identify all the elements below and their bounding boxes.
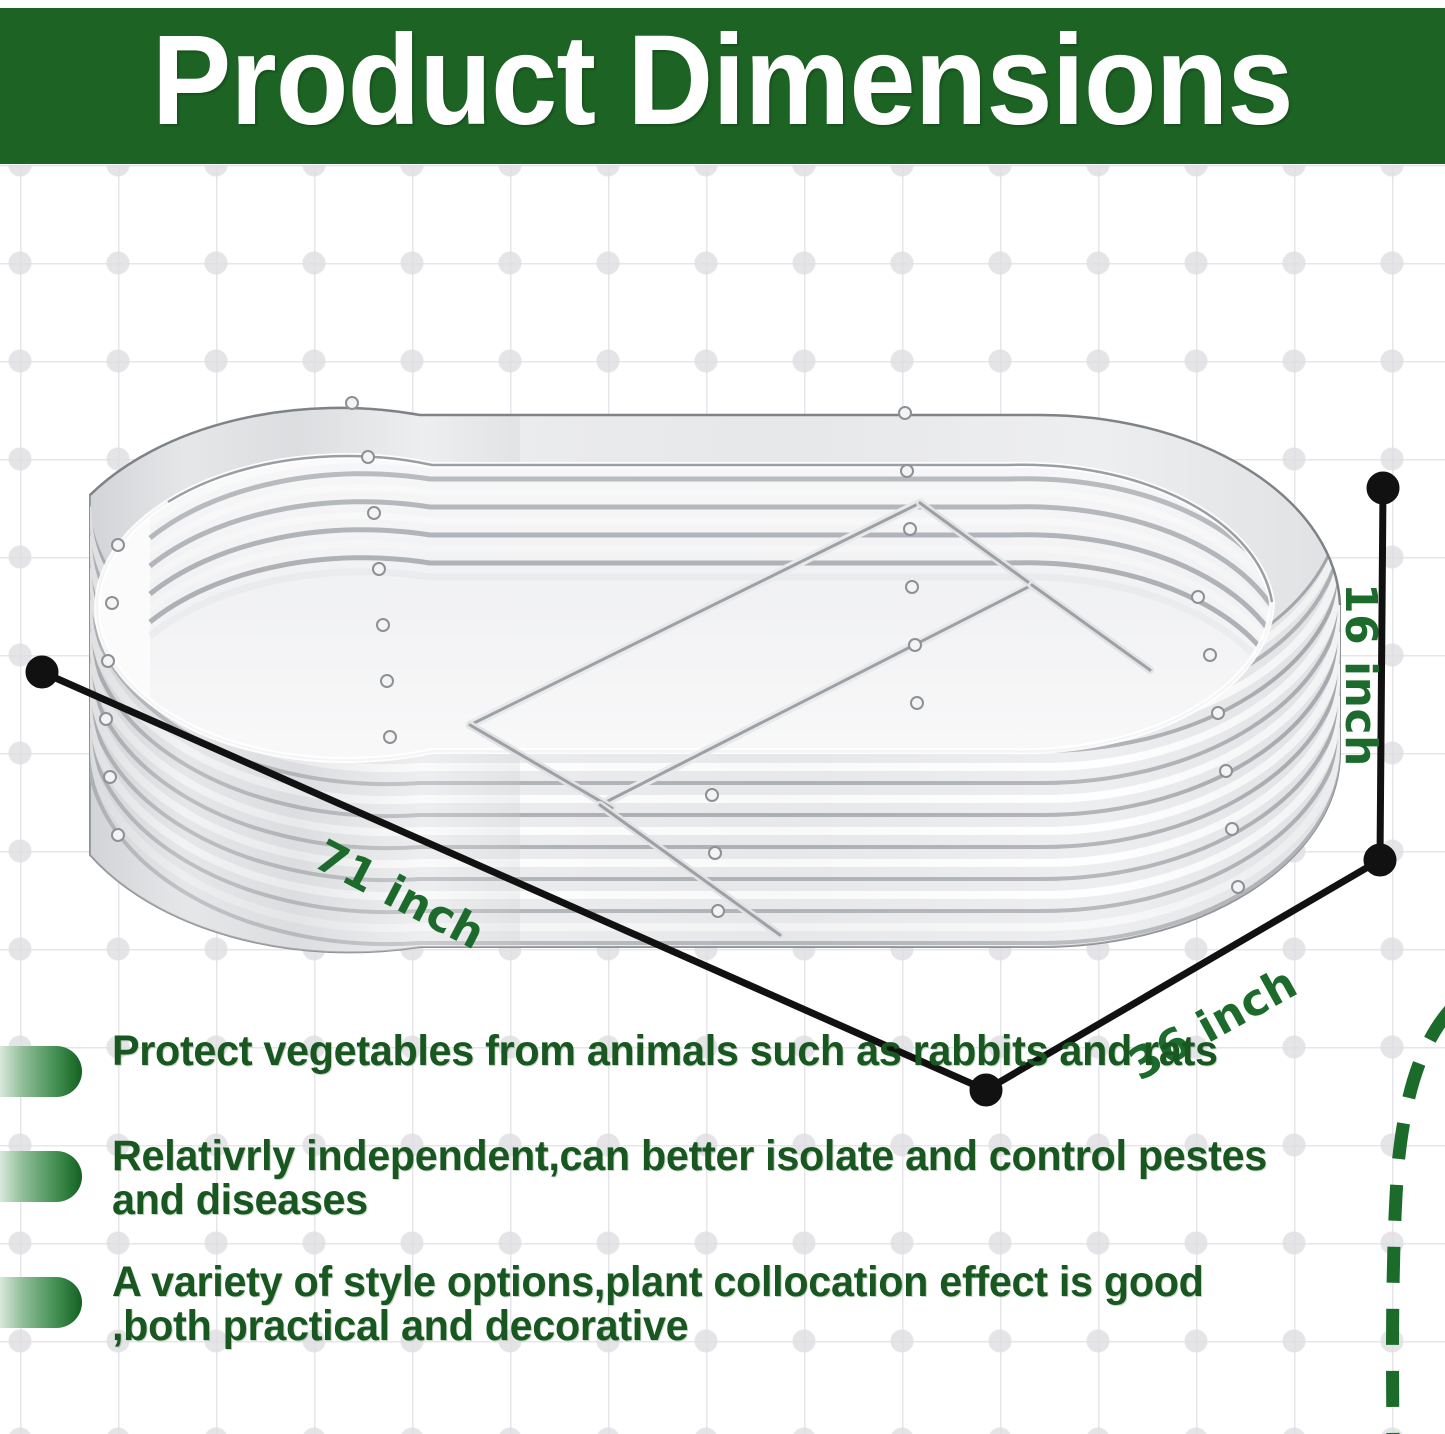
assembly-bolts bbox=[100, 397, 1244, 917]
list-item: Relativrly independent,can better isolat… bbox=[0, 1135, 1360, 1223]
bullet-pill-icon bbox=[0, 1046, 82, 1097]
page-title: Product Dimensions bbox=[152, 17, 1293, 145]
dimension-label-length: 71 inch bbox=[306, 830, 493, 960]
dashed-arc-decoration bbox=[1393, 1010, 1445, 1434]
bullet-pill-icon bbox=[0, 1277, 82, 1328]
header-banner: Product Dimensions bbox=[0, 8, 1445, 164]
dimension-endpoint-length bbox=[29, 659, 55, 685]
corrugated-ribs bbox=[88, 405, 1350, 965]
dimension-label-height: 16 inch bbox=[1335, 583, 1386, 767]
feature-text: Protect vegetables from animals such as … bbox=[112, 1030, 1218, 1074]
inner-wall-ribs bbox=[150, 445, 1300, 765]
bed-top-rim bbox=[97, 456, 1272, 760]
product-dimensions-infographic: Product Dimensions bbox=[0, 0, 1445, 1434]
support-braces bbox=[470, 503, 1150, 935]
list-item: Protect vegetables from animals such as … bbox=[0, 1030, 1360, 1097]
raised-garden-bed-graphic bbox=[88, 397, 1350, 965]
bed-outer-body bbox=[90, 408, 1340, 953]
bed-outer-rim bbox=[90, 408, 1340, 605]
feature-text: A variety of style options,plant colloca… bbox=[112, 1261, 1310, 1349]
list-item: A variety of style options,plant colloca… bbox=[0, 1261, 1360, 1349]
feature-list: Protect vegetables from animals such as … bbox=[0, 1030, 1360, 1386]
dimension-endpoint-height-top bbox=[1370, 475, 1396, 501]
dimension-endpoint-height-bottom bbox=[1367, 847, 1393, 873]
feature-text: Relativrly independent,can better isolat… bbox=[112, 1135, 1310, 1223]
bullet-pill-icon bbox=[0, 1151, 82, 1202]
bed-inner-cavity bbox=[97, 456, 1272, 760]
